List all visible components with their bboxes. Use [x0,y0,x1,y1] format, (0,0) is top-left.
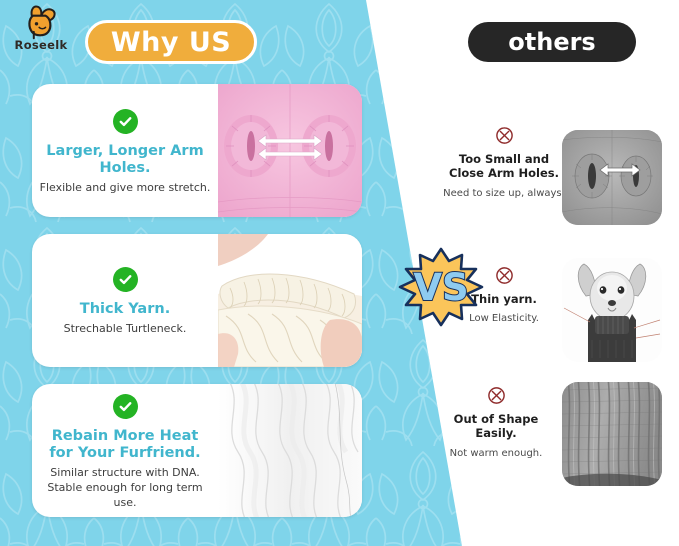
others-header-pill: others [468,22,636,62]
con-row-1: Too Small and Close Arm Holes. Need to s… [440,126,568,200]
con-row-3: Out of Shape Easily. Not warm enough. [432,386,560,460]
pro-card-3-title: Rebain More Heat for Your Furfriend. [39,428,211,462]
con-row-3-subtitle: Not warm enough. [432,447,560,460]
pro-card-1-text: Larger, Longer Arm Holes. Flexible and g… [32,84,218,217]
pro-card-3-subtitle-line1: Similar structure with DNA. [50,466,199,480]
pro-card-1-subtitle: Flexible and give more stretch. [40,181,211,195]
white-cable-knit-photo [218,384,362,517]
green-check-icon [113,109,138,134]
pro-card-2-title: Thick Yarn. [80,301,170,318]
pro-card-2: Thick Yarn. Strechable Turtleneck. [32,234,362,367]
comparison-infographic: Roseelk Why US others Larger, Longer Arm… [0,0,679,546]
cream-knit-turtleneck-photo [218,234,362,367]
gray-chihuahua-sweater-photo [562,258,662,362]
con-row-3-text: Out of Shape Easily. Not warm enough. [432,386,560,460]
others-label: others [508,28,595,56]
brand-logo: Roseelk [8,4,74,52]
con-row-1-text: Too Small and Close Arm Holes. Need to s… [440,126,568,200]
pro-card-3: Rebain More Heat for Your Furfriend. Sim… [32,384,362,517]
con-row-1-subtitle: Need to size up, always. [440,187,568,200]
green-check-icon [113,267,138,292]
why-us-header-pill: Why US [85,20,257,64]
gray-armholes-photo [562,130,662,225]
pro-card-2-subtitle: Strechable Turtleneck. [64,322,187,336]
vs-badge: VS [398,247,484,327]
pro-card-3-subtitle-line2: Stable enough for long term use. [39,481,211,510]
con-row-3-title: Out of Shape Easily. [432,412,560,441]
red-cross-icon [495,126,514,145]
pro-card-1-title: Larger, Longer Arm Holes. [39,143,211,177]
con-row-1-title: Too Small and Close Arm Holes. [440,152,568,181]
pro-card-2-text: Thick Yarn. Strechable Turtleneck. [32,234,218,367]
rabbit-head-icon [21,4,61,40]
why-us-label: Why US [111,27,231,58]
pink-sweater-armholes-photo [218,84,362,217]
brand-name: Roseelk [8,38,74,52]
green-check-icon [113,394,138,419]
red-cross-icon [495,266,514,285]
pro-card-3-text: Rebain More Heat for Your Furfriend. Sim… [32,384,218,517]
gray-stretched-knit-photo [562,382,662,486]
vs-label: VS [413,266,468,309]
red-cross-icon [487,386,506,405]
pro-card-1: Larger, Longer Arm Holes. Flexible and g… [32,84,362,217]
